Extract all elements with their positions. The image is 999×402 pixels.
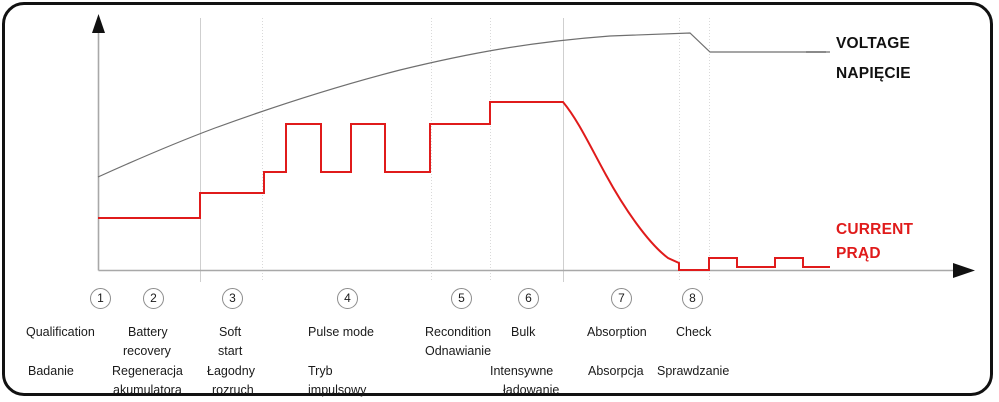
stage-badge-2[interactable]: 2 bbox=[143, 288, 164, 309]
stage-badge-5[interactable]: 5 bbox=[451, 288, 472, 309]
stage-4-label-en: Pulse mode bbox=[308, 325, 374, 340]
legend-current-en: CURRENT bbox=[836, 221, 913, 239]
stage-3-label-pl: Łagodny bbox=[207, 364, 255, 379]
stage-5-label-pl: Odnawianie bbox=[425, 344, 491, 359]
stage-6-label-en: Bulk bbox=[511, 325, 535, 340]
y-axis-arrow bbox=[92, 14, 105, 33]
stage-5-label-en: Recondition bbox=[425, 325, 491, 340]
axes bbox=[99, 30, 959, 271]
chart-canvas bbox=[0, 0, 999, 402]
stage-badge-8[interactable]: 8 bbox=[682, 288, 703, 309]
legend-voltage-en: VOLTAGE bbox=[836, 35, 910, 53]
stage-badge-1[interactable]: 1 bbox=[90, 288, 111, 309]
legend-voltage-pl: NAPIĘCIE bbox=[836, 65, 911, 83]
stage-badge-7[interactable]: 7 bbox=[611, 288, 632, 309]
stage-badge-4[interactable]: 4 bbox=[337, 288, 358, 309]
legend-current-pl: PRĄD bbox=[836, 245, 881, 263]
voltage-curve bbox=[98, 33, 830, 177]
stage-4-label-pl: Tryb bbox=[308, 364, 333, 379]
stage-6-label-pl2: ładowanie bbox=[503, 383, 559, 398]
stage-badge-6[interactable]: 6 bbox=[518, 288, 539, 309]
stage-badge-3[interactable]: 3 bbox=[222, 288, 243, 309]
stage-7-label-pl: Absorpcja bbox=[588, 364, 644, 379]
stage-2-label-en2: recovery bbox=[123, 344, 171, 359]
stage-8-label-pl: Sprawdzanie bbox=[657, 364, 729, 379]
stage-2-label-pl: Regeneracja bbox=[112, 364, 183, 379]
stage-1-label-pl: Badanie bbox=[28, 364, 74, 379]
stage-6-label-pl: Intensywne bbox=[490, 364, 553, 379]
stage-8-label-en: Check bbox=[676, 325, 711, 340]
stage-3-label-pl2: rozruch bbox=[212, 383, 254, 398]
x-axis-arrow bbox=[953, 263, 975, 278]
stage-2-label-en: Battery bbox=[128, 325, 168, 340]
stage-3-label-en: Soft bbox=[219, 325, 241, 340]
stage-1-label-en: Qualification bbox=[26, 325, 95, 340]
charging-stages-diagram: VOLTAGE NAPIĘCIE CURRENT PRĄD 1 2 3 4 5 … bbox=[0, 0, 999, 402]
current-curve bbox=[98, 102, 830, 270]
stage-2-label-pl2: akumulatora bbox=[113, 383, 182, 398]
stage-7-label-en: Absorption bbox=[587, 325, 647, 340]
stage-4-label-pl2: impulsowy bbox=[308, 383, 366, 398]
stage-3-label-en2: start bbox=[218, 344, 242, 359]
